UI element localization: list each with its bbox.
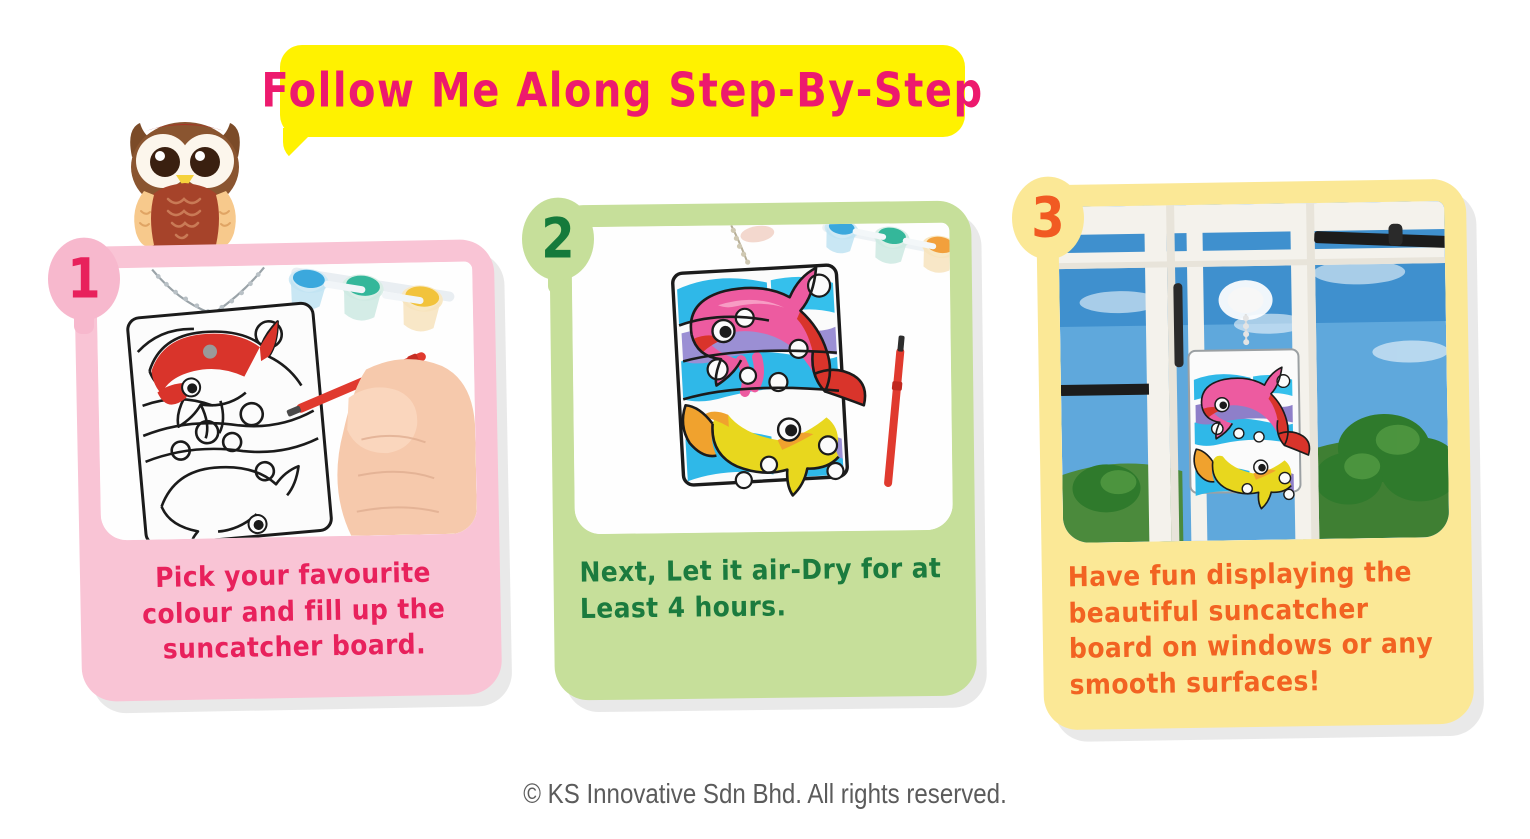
step-3-caption: Have fun displaying the beautiful suncat… (1068, 554, 1454, 703)
step-card-1: Pick your favourite colour and fill up t… (74, 239, 503, 702)
step-3-badge: 3 (1012, 177, 1084, 260)
step-2-photo (571, 223, 953, 535)
speech-bubble: Follow Me Along Step-By-Step (280, 45, 965, 137)
step-1-caption: Pick your favourite colour and fill up t… (106, 554, 482, 668)
step-card-2: Next, Let it air-Dry for at Least 4 hour… (549, 200, 977, 700)
step-3-photo (1058, 201, 1449, 543)
step-2-caption: Next, Let it air-Dry for at Least 4 hour… (579, 551, 956, 627)
step-card-3: Have fun displaying the beautiful suncat… (1036, 179, 1475, 731)
instruction-poster: Follow Me Along Step-By-Step (0, 0, 1530, 839)
page-title: Follow Me Along Step-By-Step (280, 37, 965, 146)
copyright-footer: © KS Innovative Sdn Bhd. All rights rese… (107, 778, 1423, 810)
step-1-badge: 1 (48, 238, 120, 321)
step-2-badge: 2 (522, 198, 594, 281)
step-1-photo (96, 261, 477, 540)
